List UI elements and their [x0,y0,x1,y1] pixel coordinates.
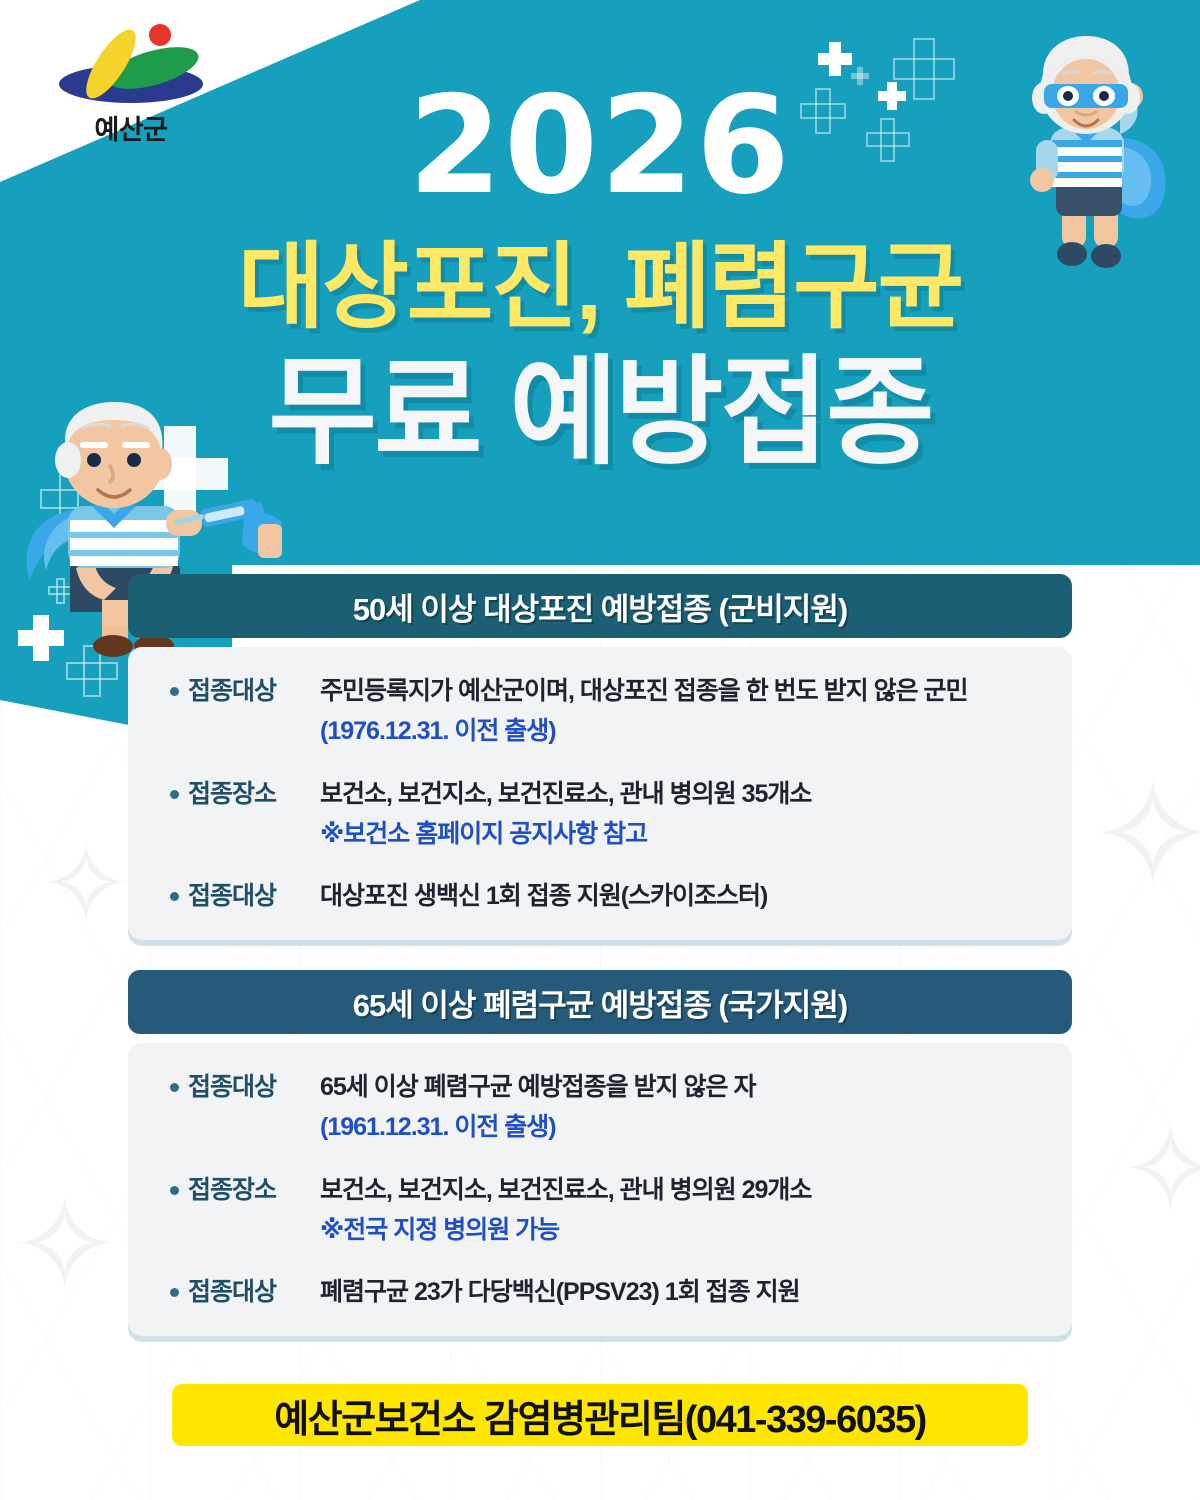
info-row-value: 65세 이상 폐렴구균 예방접종을 받지 않은 자 (1961.12.31. 이… [320,1069,1038,1146]
sparkle-decor-icon: ✧ [1120,1110,1200,1230]
info-row-value-sub: (1961.12.31. 이전 출생) [320,1109,1038,1145]
sparkle-decor-icon: ✧ [1090,760,1200,910]
poster-root: ✧ ✧ ✧ ✧ [0,0,1200,1500]
info-row-label: 접종장소 [170,776,320,812]
info-row: 접종장소 보건소, 보건지소, 보건진료소, 관내 병의원 29개소 ※전국 지… [170,1172,1038,1249]
info-row-label: 접종대상 [170,1069,320,1105]
section-body-pneumococcal: 접종대상 65세 이상 폐렴구균 예방접종을 받지 않은 자 (1961.12.… [128,1043,1072,1336]
info-row-value-main: 보건소, 보건지소, 보건진료소, 관내 병의원 29개소 [320,1172,1038,1208]
info-row-value-main: 폐렴구균 23가 다당백신(PPSV23) 1회 접종 지원 [320,1274,1038,1310]
info-row: 접종장소 보건소, 보건지소, 보건진료소, 관내 병의원 35개소 ※보건소 … [170,776,1038,853]
info-row-value: 보건소, 보건지소, 보건진료소, 관내 병의원 29개소 ※전국 지정 병의원… [320,1172,1038,1249]
info-row: 접종대상 대상포진 생백신 1회 접종 지원(스카이조스터) [170,878,1038,914]
info-row-value-sub: (1976.12.31. 이전 출생) [320,713,1038,749]
section-header-pneumococcal: 65세 이상 폐렴구균 예방접종 (국가지원) [128,970,1072,1034]
section-header-shingles: 50세 이상 대상포진 예방접종 (군비지원) [128,574,1072,638]
info-row: 접종대상 65세 이상 폐렴구균 예방접종을 받지 않은 자 (1961.12.… [170,1069,1038,1146]
info-row-value: 폐렴구균 23가 다당백신(PPSV23) 1회 접종 지원 [320,1274,1038,1310]
info-row-value: 주민등록지가 예산군이며, 대상포진 접종을 한 번도 받지 않은 군민 (19… [320,673,1038,750]
info-row-value: 보건소, 보건지소, 보건진료소, 관내 병의원 35개소 ※보건소 홈페이지 … [320,776,1038,853]
sparkle-decor-icon: ✧ [40,830,132,940]
medical-cross-icon [818,42,852,76]
info-row-label: 접종장소 [170,1172,320,1208]
info-row: 접종대상 폐렴구균 23가 다당백신(PPSV23) 1회 접종 지원 [170,1274,1038,1310]
info-row-value-main: 보건소, 보건지소, 보건진료소, 관내 병의원 35개소 [320,776,1038,812]
info-row-value-sub: ※전국 지정 병의원 가능 [320,1212,1038,1248]
info-row-value-main: 65세 이상 폐렴구균 예방접종을 받지 않은 자 [320,1069,1038,1105]
info-row: 접종대상 주민등록지가 예산군이며, 대상포진 접종을 한 번도 받지 않은 군… [170,673,1038,750]
info-row-value: 대상포진 생백신 1회 접종 지원(스카이조스터) [320,878,1038,914]
info-row-value-main: 주민등록지가 예산군이며, 대상포진 접종을 한 번도 받지 않은 군민 [320,673,1038,709]
section-shingles: 50세 이상 대상포진 예방접종 (군비지원) 접종대상 주민등록지가 예산군이… [128,574,1072,940]
section-body-shingles: 접종대상 주민등록지가 예산군이며, 대상포진 접종을 한 번도 받지 않은 군… [128,647,1072,940]
sparkle-decor-icon: ✧ [10,1180,119,1310]
contact-banner: 예산군보건소 감염병관리팀(041-339-6035) [172,1384,1028,1446]
info-row-value-main: 대상포진 생백신 1회 접종 지원(스카이조스터) [320,878,1038,914]
info-row-label: 접종대상 [170,673,320,709]
info-row-label: 접종대상 [170,878,320,914]
info-row-label: 접종대상 [170,1274,320,1310]
superhero-grandma-illustration [1008,28,1184,278]
info-row-value-sub: ※보건소 홈페이지 공지사항 참고 [320,816,1038,852]
section-pneumococcal: 65세 이상 폐렴구균 예방접종 (국가지원) 접종대상 65세 이상 폐렴구균… [128,970,1072,1336]
